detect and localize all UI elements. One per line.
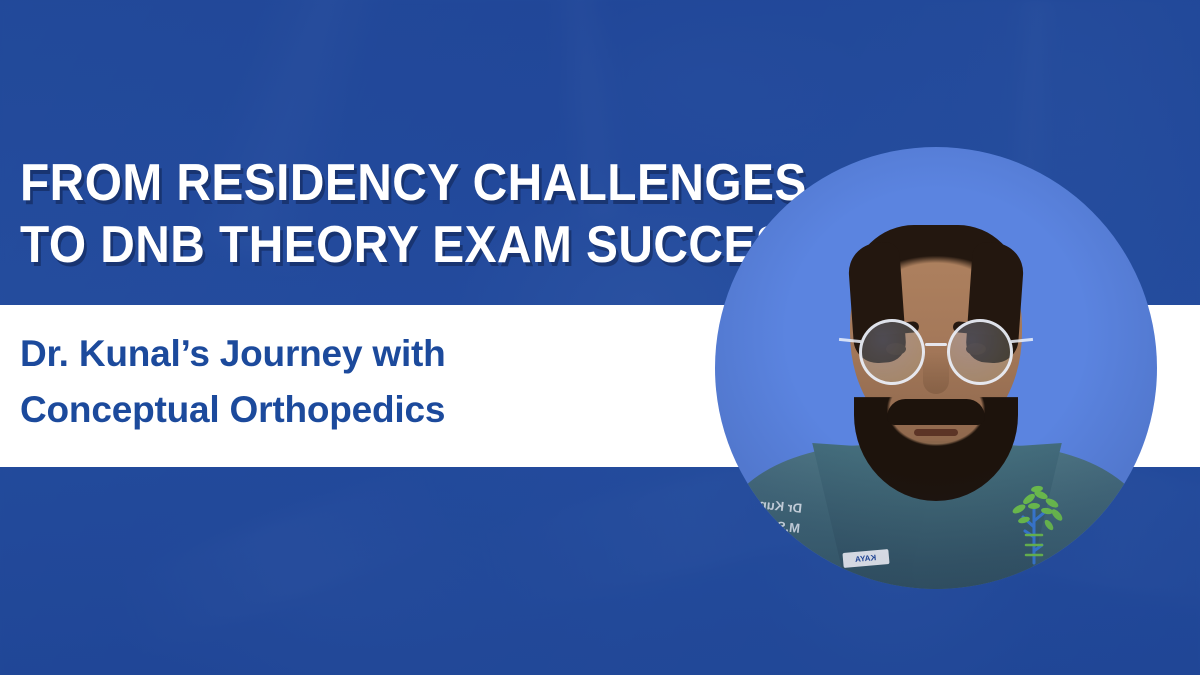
subtitle: Dr. Kunal’s Journey with Conceptual Orth… [20,326,700,438]
headline: FROM RESIDENCY CHALLENGES TO DNB THEORY … [20,152,692,276]
promo-banner: FROM RESIDENCY CHALLENGES TO DNB THEORY … [0,0,1200,675]
subtitle-line-1: Dr. Kunal’s Journey with [20,326,700,382]
scrub-badge-label: KAYA [855,553,877,564]
headline-line-2: TO DNB THEORY EXAM SUCCESS [20,214,692,276]
portrait-circle: Dr Kunal R Nu M.S. Orthopaed KAYA [715,147,1157,589]
tree-logo-icon [1001,475,1067,567]
eyeglasses-bridge [925,343,947,346]
headline-line-1: FROM RESIDENCY CHALLENGES [20,152,692,214]
mustache [887,399,985,425]
nose [923,352,949,394]
eyeglasses-lens-right [947,319,1013,385]
eyeglasses-lens-left [859,319,925,385]
subtitle-line-2: Conceptual Orthopedics [20,382,700,438]
mouth [914,429,958,436]
doctor-portrait: Dr Kunal R Nu M.S. Orthopaed KAYA [715,147,1157,589]
